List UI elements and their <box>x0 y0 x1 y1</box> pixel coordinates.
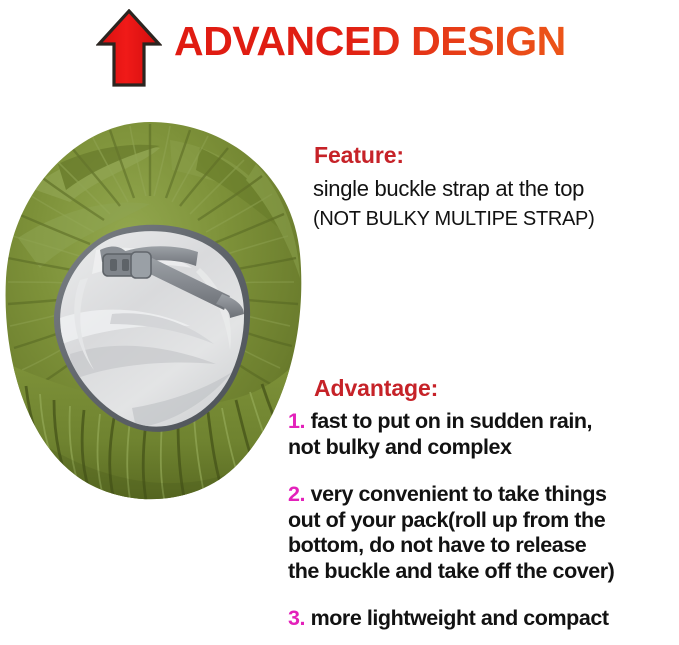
advantage-item-text: more lightweight and compact <box>311 606 609 630</box>
advantage-item-number: 3. <box>288 606 305 630</box>
advantage-item-number: 2. <box>288 482 305 506</box>
advantage-heading: Advantage: <box>314 373 679 403</box>
product-image-rain-cover <box>0 118 306 510</box>
advantage-list-item: 3. more lightweight and compact <box>288 606 679 632</box>
page-title: ADVANCED DESIGN <box>174 17 566 65</box>
feature-line-2: (NOT BULKY MULTIPE STRAP) <box>313 205 679 233</box>
feature-section: Feature: single buckle strap at the top … <box>306 140 679 233</box>
advantage-item-text: fast to put on in sudden rain, <box>311 409 593 433</box>
up-arrow-icon <box>96 9 162 87</box>
advantage-item-number: 1. <box>288 409 305 433</box>
product-feature-infographic: ADVANCED DESIGN <box>0 0 679 645</box>
advantage-list-item: 2. very convenient to take things out of… <box>288 482 679 584</box>
advantage-item-text: out of your pack(roll up from the <box>288 508 605 532</box>
advantage-section: Advantage: 1. fast to put on in sudden r… <box>286 373 679 632</box>
feature-line-1: single buckle strap at the top <box>313 174 679 203</box>
advantage-item-text: the buckle and take off the cover) <box>288 559 614 583</box>
side-release-buckle <box>103 252 151 278</box>
header-banner: ADVANCED DESIGN <box>0 0 679 92</box>
advantage-list-item: 1. fast to put on in sudden rain, not bu… <box>288 409 679 460</box>
feature-heading: Feature: <box>314 140 679 170</box>
advantage-item-text: very convenient to take things <box>311 482 607 506</box>
advantage-item-text: bottom, do not have to release <box>288 533 586 557</box>
advantage-item-text: not bulky and complex <box>288 435 512 459</box>
